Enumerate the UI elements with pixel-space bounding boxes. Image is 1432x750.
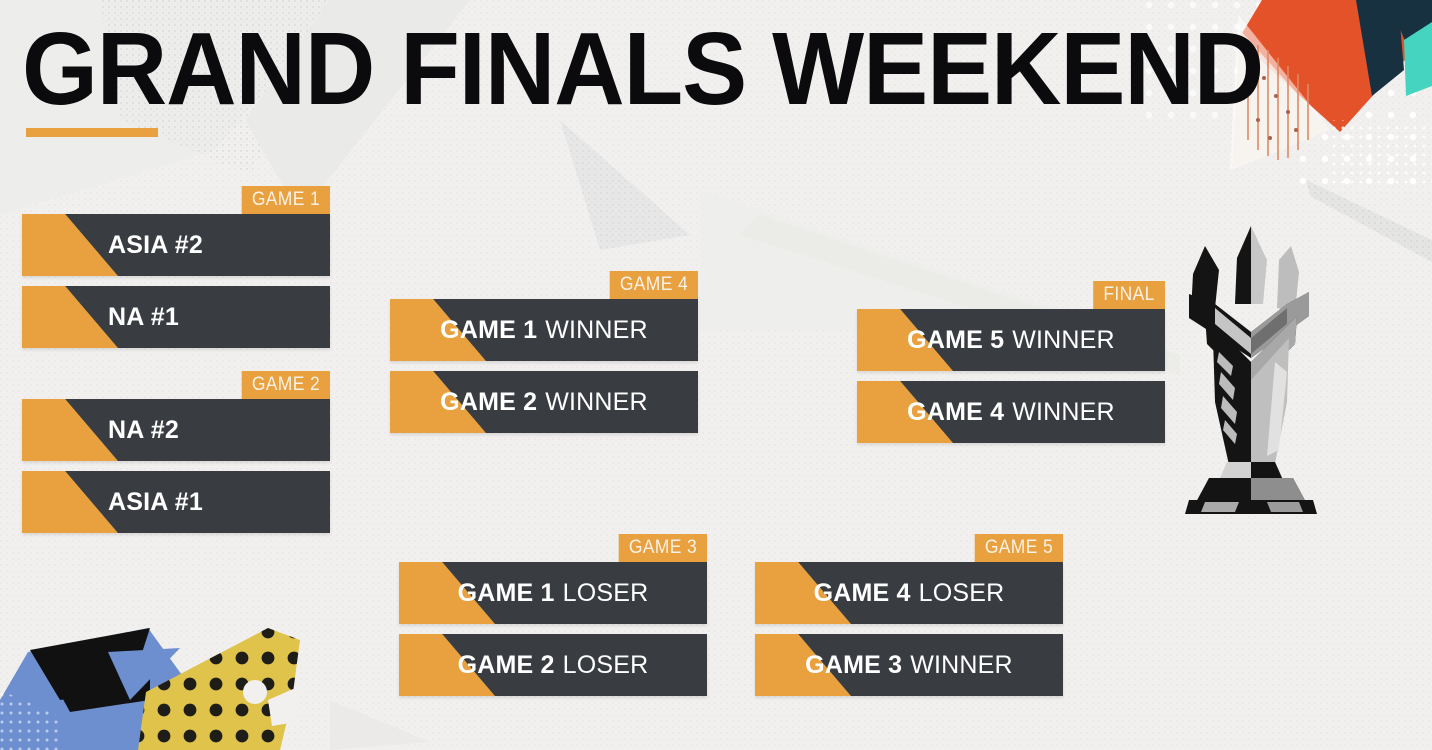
title-underline-bar [26,128,158,137]
row-label: GAME 4 WINNER [857,381,1165,443]
row-label-strong: ASIA #1 [108,488,203,517]
row-label: GAME 1 LOSER [399,562,707,624]
row-label-strong: GAME 5 [907,326,1004,355]
row-label: NA #2 [22,399,330,461]
match-tab-game3: GAME 3 [618,534,707,562]
row-label: GAME 1 WINNER [390,299,698,361]
row-label: GAME 3 WINNER [755,634,1063,696]
table-row[interactable]: GAME 2 WINNER [390,371,698,433]
row-label-strong: GAME 4 [814,579,911,608]
table-row[interactable]: GAME 1 WINNER [390,299,698,361]
row-label-light: WINNER [1012,398,1115,427]
row-label: GAME 5 WINNER [857,309,1165,371]
row-label-light: WINNER [545,316,648,345]
match-game1[interactable]: GAME 1 ASIA #2 NA #1 [22,186,330,348]
table-row[interactable]: GAME 4 WINNER [857,381,1165,443]
page-title-wrap: GRAND FINALS WEEKEND [22,18,1193,110]
table-row[interactable]: NA #2 [22,399,330,461]
table-row[interactable]: GAME 3 WINNER [755,634,1063,696]
match-tab-game5: GAME 5 [974,534,1063,562]
row-label: GAME 2 LOSER [399,634,707,696]
table-row[interactable]: GAME 1 LOSER [399,562,707,624]
row-label-light: LOSER [919,579,1005,608]
row-label-strong: GAME 4 [907,398,1004,427]
page-title: GRAND FINALS WEEKEND [22,18,1263,121]
table-row[interactable]: NA #1 [22,286,330,348]
match-game2[interactable]: GAME 2 NA #2 ASIA #1 [22,371,330,533]
row-label: NA #1 [22,286,330,348]
table-row[interactable]: GAME 4 LOSER [755,562,1063,624]
table-row[interactable]: GAME 5 WINNER [857,309,1165,371]
trophy-graphic [1175,212,1325,522]
row-label-strong: NA #2 [108,416,179,445]
row-label-strong: GAME 1 [458,579,555,608]
row-label-light: WINNER [1012,326,1115,355]
row-label-strong: GAME 2 [458,651,555,680]
match-tab-game1: GAME 1 [241,186,330,214]
table-row[interactable]: ASIA #1 [22,471,330,533]
match-tab-final: FINAL [1093,281,1165,309]
row-label-light: LOSER [563,651,649,680]
match-game5[interactable]: GAME 5 GAME 4 LOSER GAME 3 WINNER [755,534,1063,696]
row-label-strong: GAME 3 [805,651,902,680]
table-row[interactable]: GAME 2 LOSER [399,634,707,696]
row-label: ASIA #1 [22,471,330,533]
row-label-strong: ASIA #2 [108,231,203,260]
match-final[interactable]: FINAL GAME 5 WINNER GAME 4 WINNER [857,281,1165,443]
row-label: GAME 2 WINNER [390,371,698,433]
match-game3[interactable]: GAME 3 GAME 1 LOSER GAME 2 LOSER [399,534,707,696]
row-label-strong: GAME 1 [440,316,537,345]
row-label-light: WINNER [545,388,648,417]
row-label: GAME 4 LOSER [755,562,1063,624]
match-game4[interactable]: GAME 4 GAME 1 WINNER GAME 2 WINNER [390,271,698,433]
row-label-light: LOSER [563,579,649,608]
row-label-light: WINNER [910,651,1013,680]
match-tab-game2: GAME 2 [241,371,330,399]
row-label: ASIA #2 [22,214,330,276]
row-label-strong: NA #1 [108,303,179,332]
match-tab-game4: GAME 4 [609,271,698,299]
table-row[interactable]: ASIA #2 [22,214,330,276]
row-label-strong: GAME 2 [440,388,537,417]
